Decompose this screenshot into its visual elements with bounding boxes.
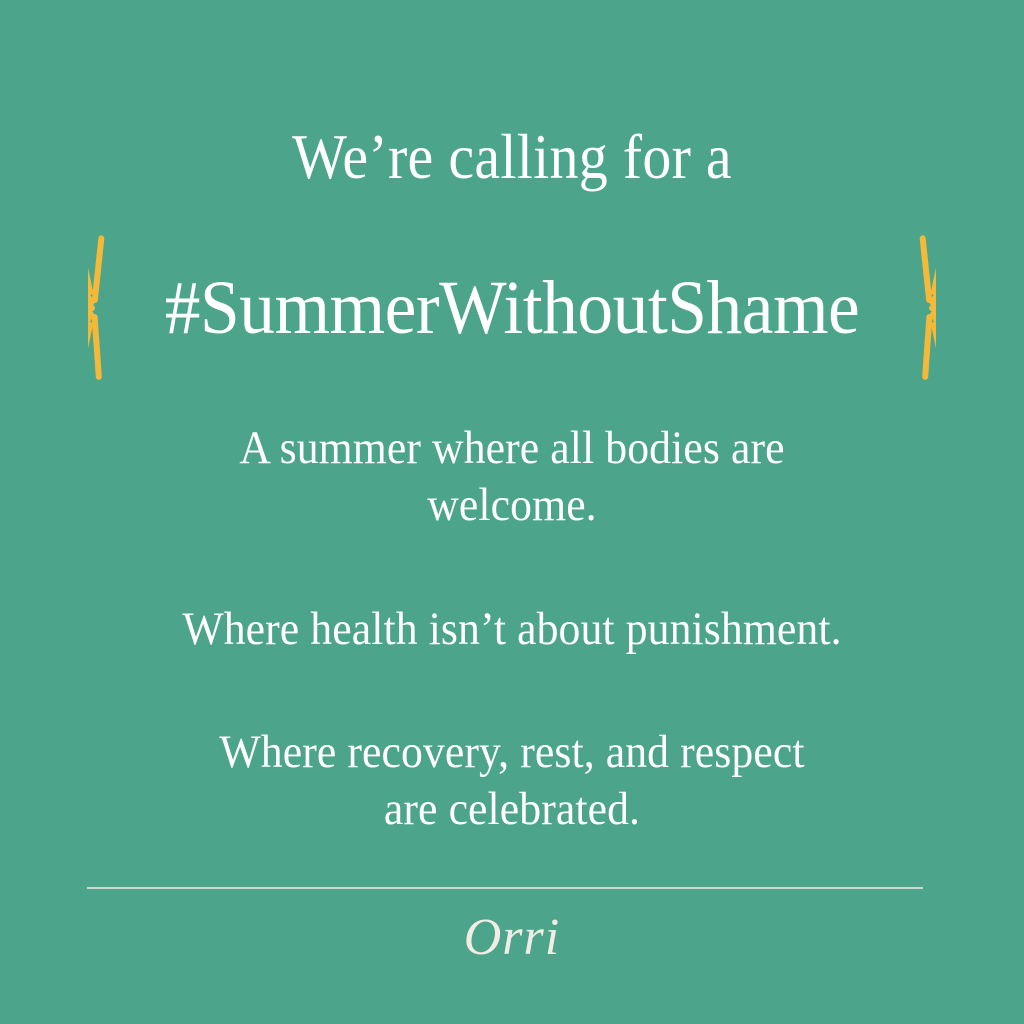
hashtag-banner: #SummerWithoutShame	[0, 200, 1024, 416]
body-paragraph: Where health isn’t about punishment.	[36, 601, 988, 658]
brand-logo: Orri	[0, 908, 1024, 967]
body-copy: A summer where all bodies are welcome. W…	[36, 420, 988, 839]
campaign-hashtag: #SummerWithoutShame	[31, 200, 994, 416]
footer-divider	[87, 887, 923, 889]
page-title: We’re calling for a	[41, 124, 983, 190]
social-post-card: We’re calling for a #SummerWithoutShame …	[0, 0, 1024, 1024]
body-paragraph: A summer where all bodies are welcome.	[36, 420, 988, 535]
body-paragraph: Where recovery, rest, and respect are ce…	[36, 724, 988, 839]
